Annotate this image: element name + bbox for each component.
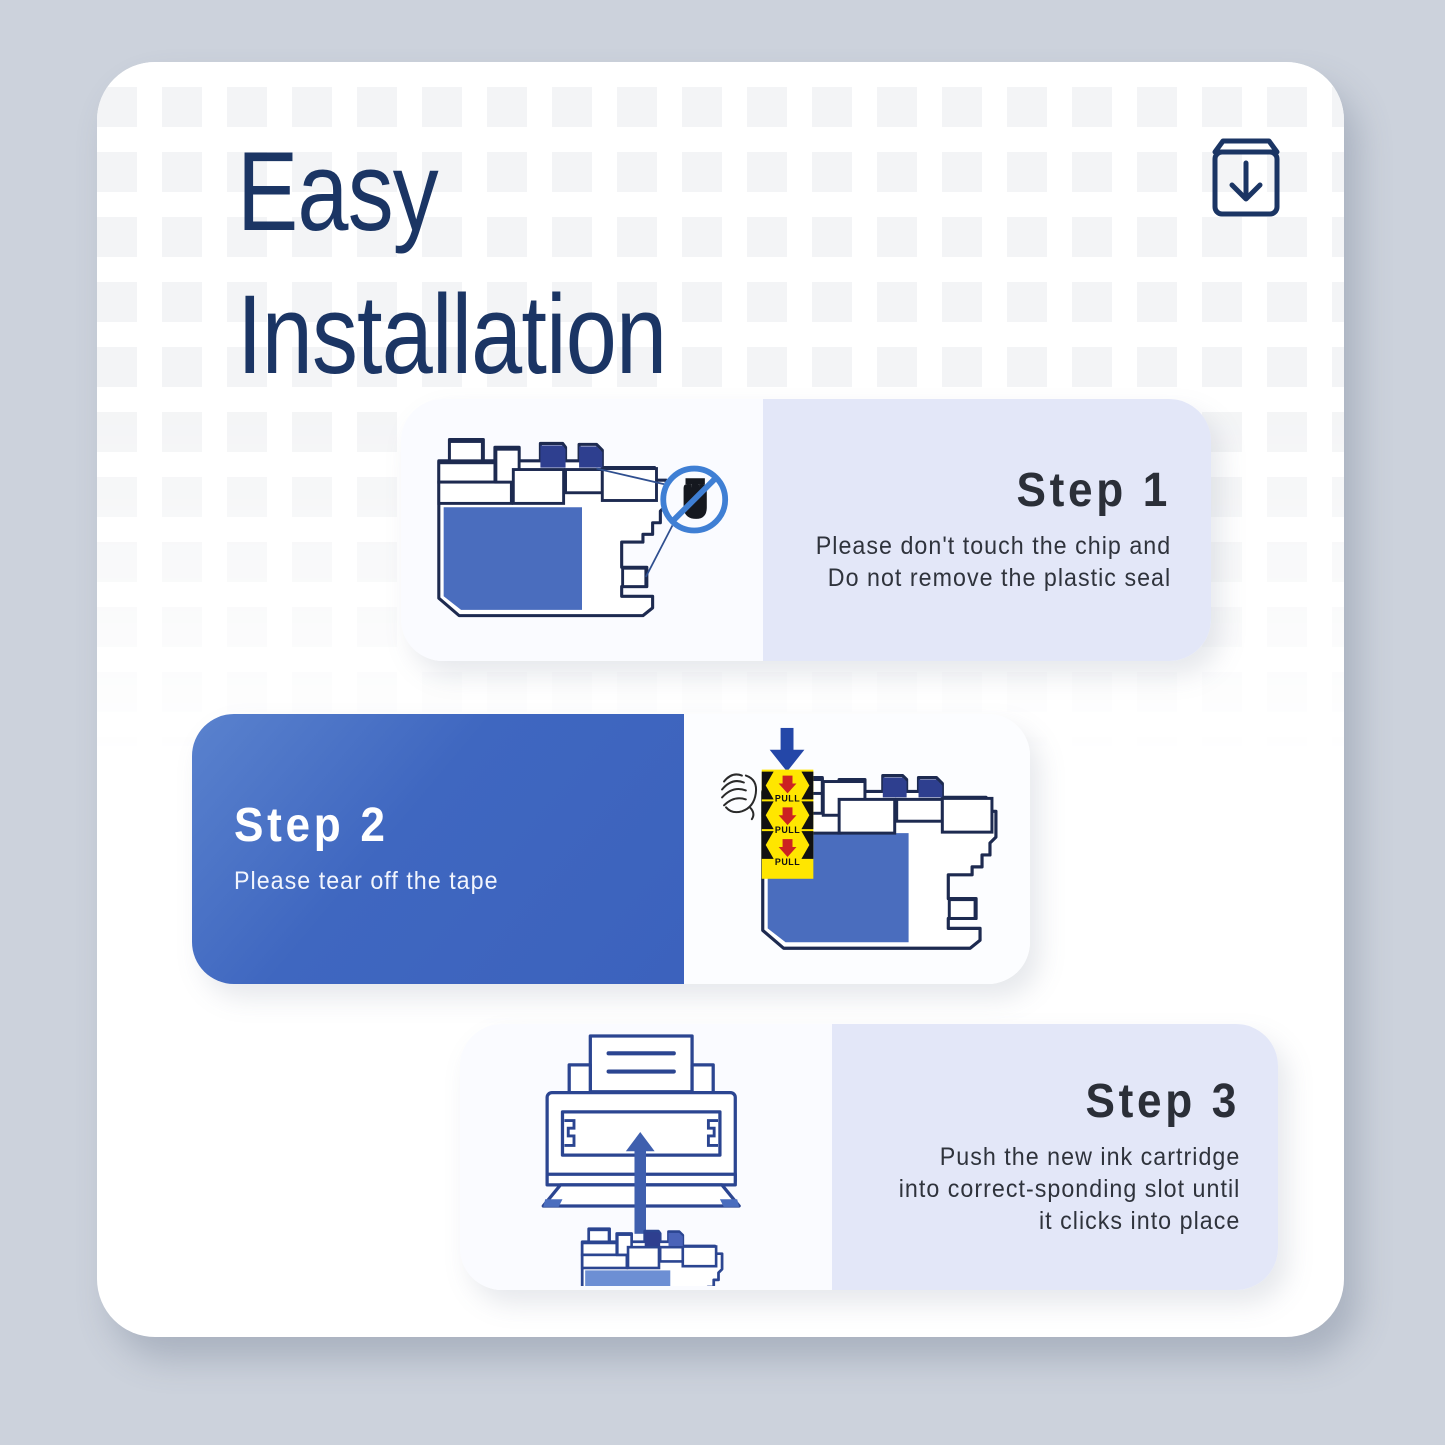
page-title: Easy Installation — [237, 120, 666, 407]
svg-text:PULL: PULL — [775, 793, 800, 803]
step-card-1[interactable]: Step 1 Please don't touch the chip and D… — [401, 399, 1211, 661]
step-3-description: Push the new ink cartridge into correct-… — [898, 1141, 1240, 1237]
down-arrow-icon — [770, 728, 805, 772]
step-3-copy: Step 3 Push the new ink cartridge into c… — [832, 1024, 1278, 1290]
box-download-icon — [1203, 136, 1289, 222]
step-1-description: Please don't touch the chip and Do not r… — [816, 530, 1171, 594]
step-1-illustration — [401, 399, 763, 661]
step-card-2[interactable]: Step 2 Please tear off the tape — [192, 714, 1030, 984]
no-touch-icon — [660, 466, 728, 534]
step-2-copy: Step 2 Please tear off the tape — [192, 714, 684, 984]
poster-canvas: Easy Installation — [0, 0, 1445, 1445]
pull-tape: PULL PULL PULL — [762, 770, 814, 879]
step-3-title: Step 3 — [1085, 1077, 1240, 1127]
step-1-copy: Step 1 Please don't touch the chip and D… — [763, 399, 1211, 661]
step-3-illustration — [460, 1024, 832, 1290]
step-2-description: Please tear off the tape — [234, 865, 499, 897]
svg-text:PULL: PULL — [775, 857, 800, 867]
main-sheet: Easy Installation — [97, 62, 1344, 1337]
svg-text:PULL: PULL — [775, 825, 800, 835]
step-1-title: Step 1 — [1016, 466, 1171, 516]
hand-pull-icon — [722, 774, 756, 819]
step-2-title: Step 2 — [234, 801, 389, 851]
step-card-3[interactable]: Step 3 Push the new ink cartridge into c… — [460, 1024, 1278, 1290]
step-2-illustration: PULL PULL PULL — [684, 714, 1030, 984]
